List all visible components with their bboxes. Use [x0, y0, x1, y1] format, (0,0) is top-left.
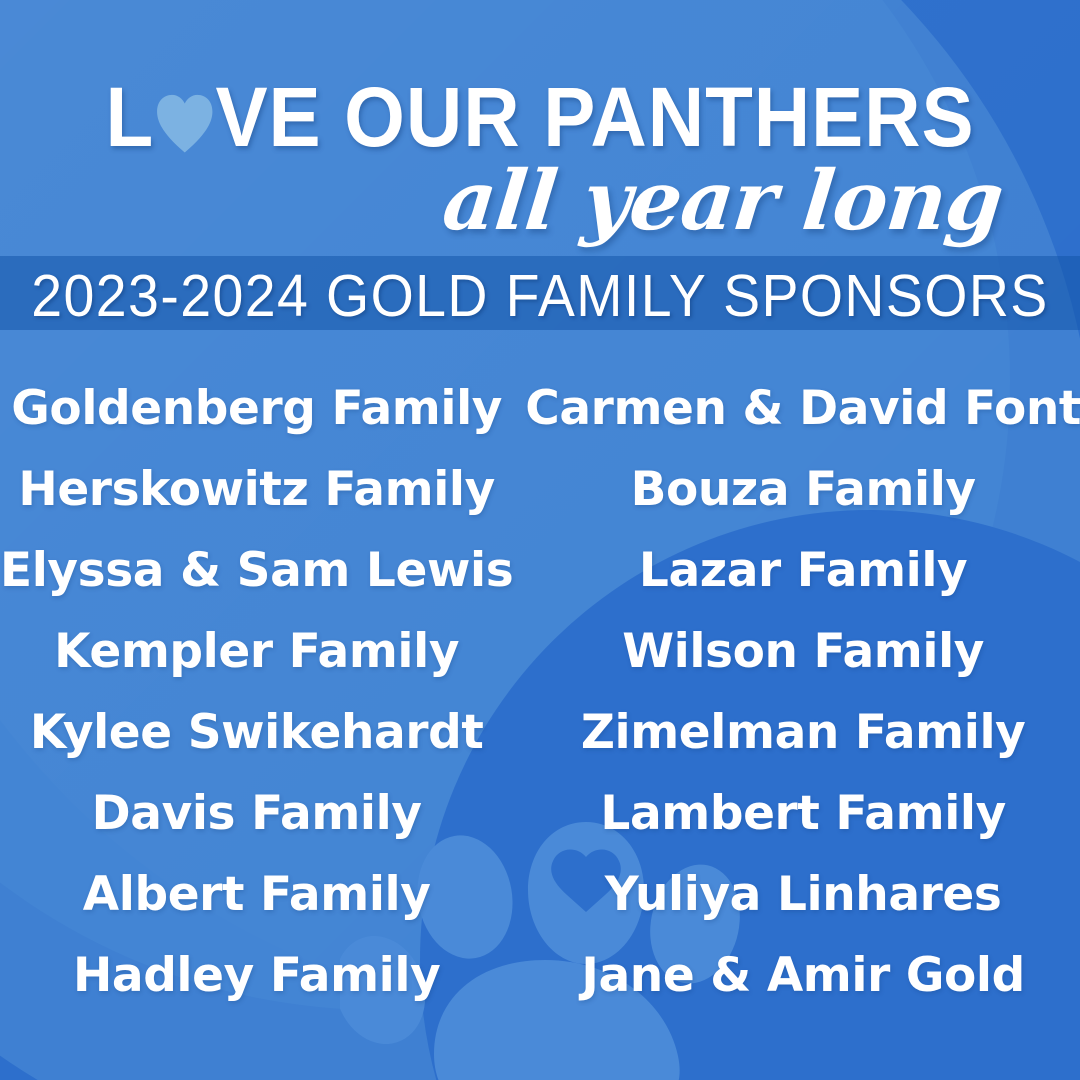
title-text-before: L — [105, 70, 154, 164]
list-item: Bouza Family — [525, 449, 1080, 530]
sponsor-poster: LVE OUR PANTHERS all year long 2023-2024… — [0, 0, 1080, 1080]
list-item: Kylee Swikehardt — [0, 692, 513, 773]
list-item: Wilson Family — [525, 611, 1080, 692]
list-item: Goldenberg Family — [0, 368, 513, 449]
title-text-after: VE OUR PANTHERS — [215, 70, 974, 164]
sponsor-column-right: Carmen & David Font Bouza Family Lazar F… — [519, 368, 1080, 1016]
list-item: Carmen & David Font — [525, 368, 1080, 449]
sponsor-list: Goldenberg Family Herskowitz Family Elys… — [0, 368, 1080, 1016]
page-title: LVE OUR PANTHERS — [38, 78, 1042, 156]
list-item: Lazar Family — [525, 530, 1080, 611]
list-item: Elyssa & Sam Lewis — [0, 530, 513, 611]
list-item: Lambert Family — [525, 773, 1080, 854]
list-item: Kempler Family — [0, 611, 513, 692]
list-item: Davis Family — [0, 773, 513, 854]
list-item: Jane & Amir Gold — [525, 935, 1080, 1016]
sponsor-column-left: Goldenberg Family Herskowitz Family Elys… — [0, 368, 519, 1016]
list-item: Yuliya Linhares — [525, 854, 1080, 935]
list-item: Zimelman Family — [525, 692, 1080, 773]
list-item: Hadley Family — [0, 935, 513, 1016]
page-subtitle: all year long — [0, 152, 1080, 250]
heart-icon — [156, 94, 214, 154]
list-item: Herskowitz Family — [0, 449, 513, 530]
list-item: Albert Family — [0, 854, 513, 935]
banner-title: 2023-2024 GOLD FAMILY SPONSORS — [32, 259, 1047, 333]
